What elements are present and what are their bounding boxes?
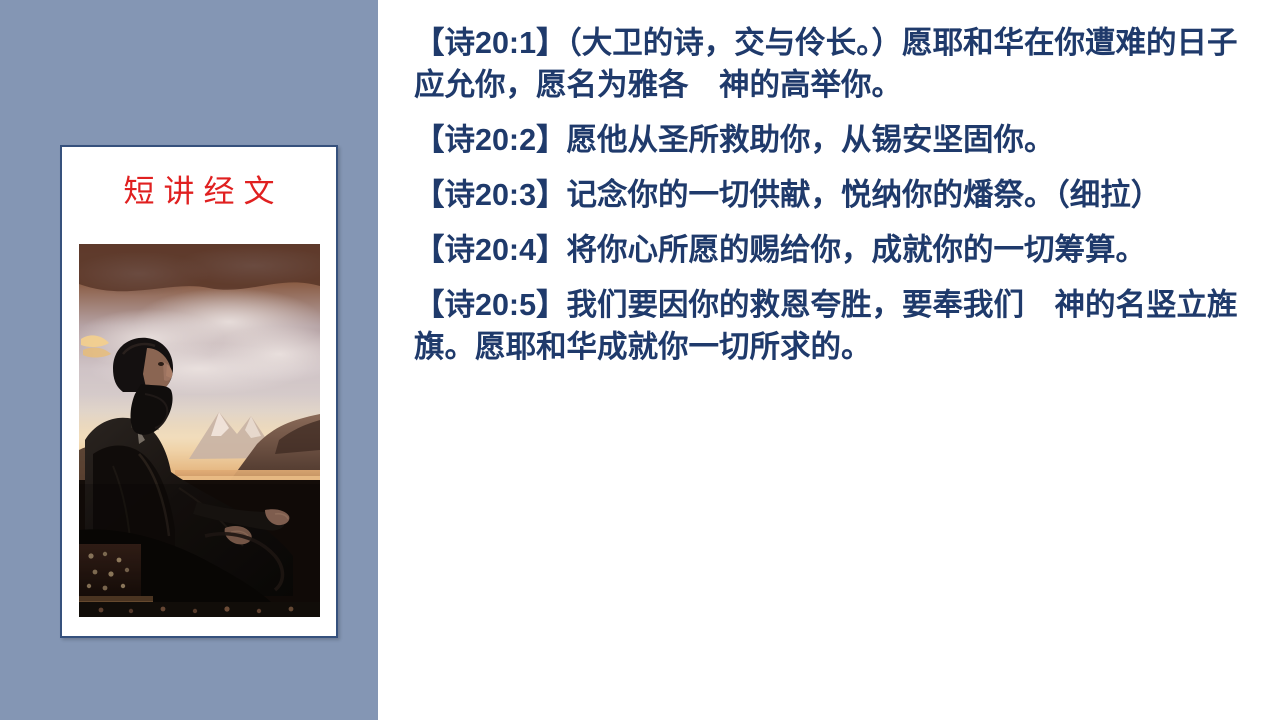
prophet-painting bbox=[79, 244, 320, 617]
card-title: 短讲经文 bbox=[62, 173, 336, 210]
scripture-text-area: 【诗20:1】（大卫的诗，交与伶长。）愿耶和华在你遭难的日子应允你，愿名为雅各 … bbox=[378, 0, 1280, 720]
verse-line: 【诗20:2】愿他从圣所救助你，从锡安坚固你。 bbox=[414, 119, 1258, 161]
verse-line: 【诗20:1】（大卫的诗，交与伶长。）愿耶和华在你遭难的日子应允你，愿名为雅各 … bbox=[414, 22, 1258, 106]
prophet-painting-image bbox=[79, 244, 320, 617]
title-card: 短讲经文 bbox=[60, 145, 338, 638]
verse-line: 【诗20:4】将你心所愿的赐给你，成就你的一切筹算。 bbox=[414, 229, 1258, 271]
verse-line: 【诗20:5】我们要因你的救恩夸胜，要奉我们 神的名竖立旌旗。愿耶和华成就你一切… bbox=[414, 284, 1258, 368]
presentation-slide: 短讲经文 bbox=[0, 0, 1280, 720]
verse-line: 【诗20:3】记念你的一切供献，悦纳你的燔祭。（细拉） bbox=[414, 174, 1258, 216]
left-sidebar-panel: 短讲经文 bbox=[0, 0, 378, 720]
